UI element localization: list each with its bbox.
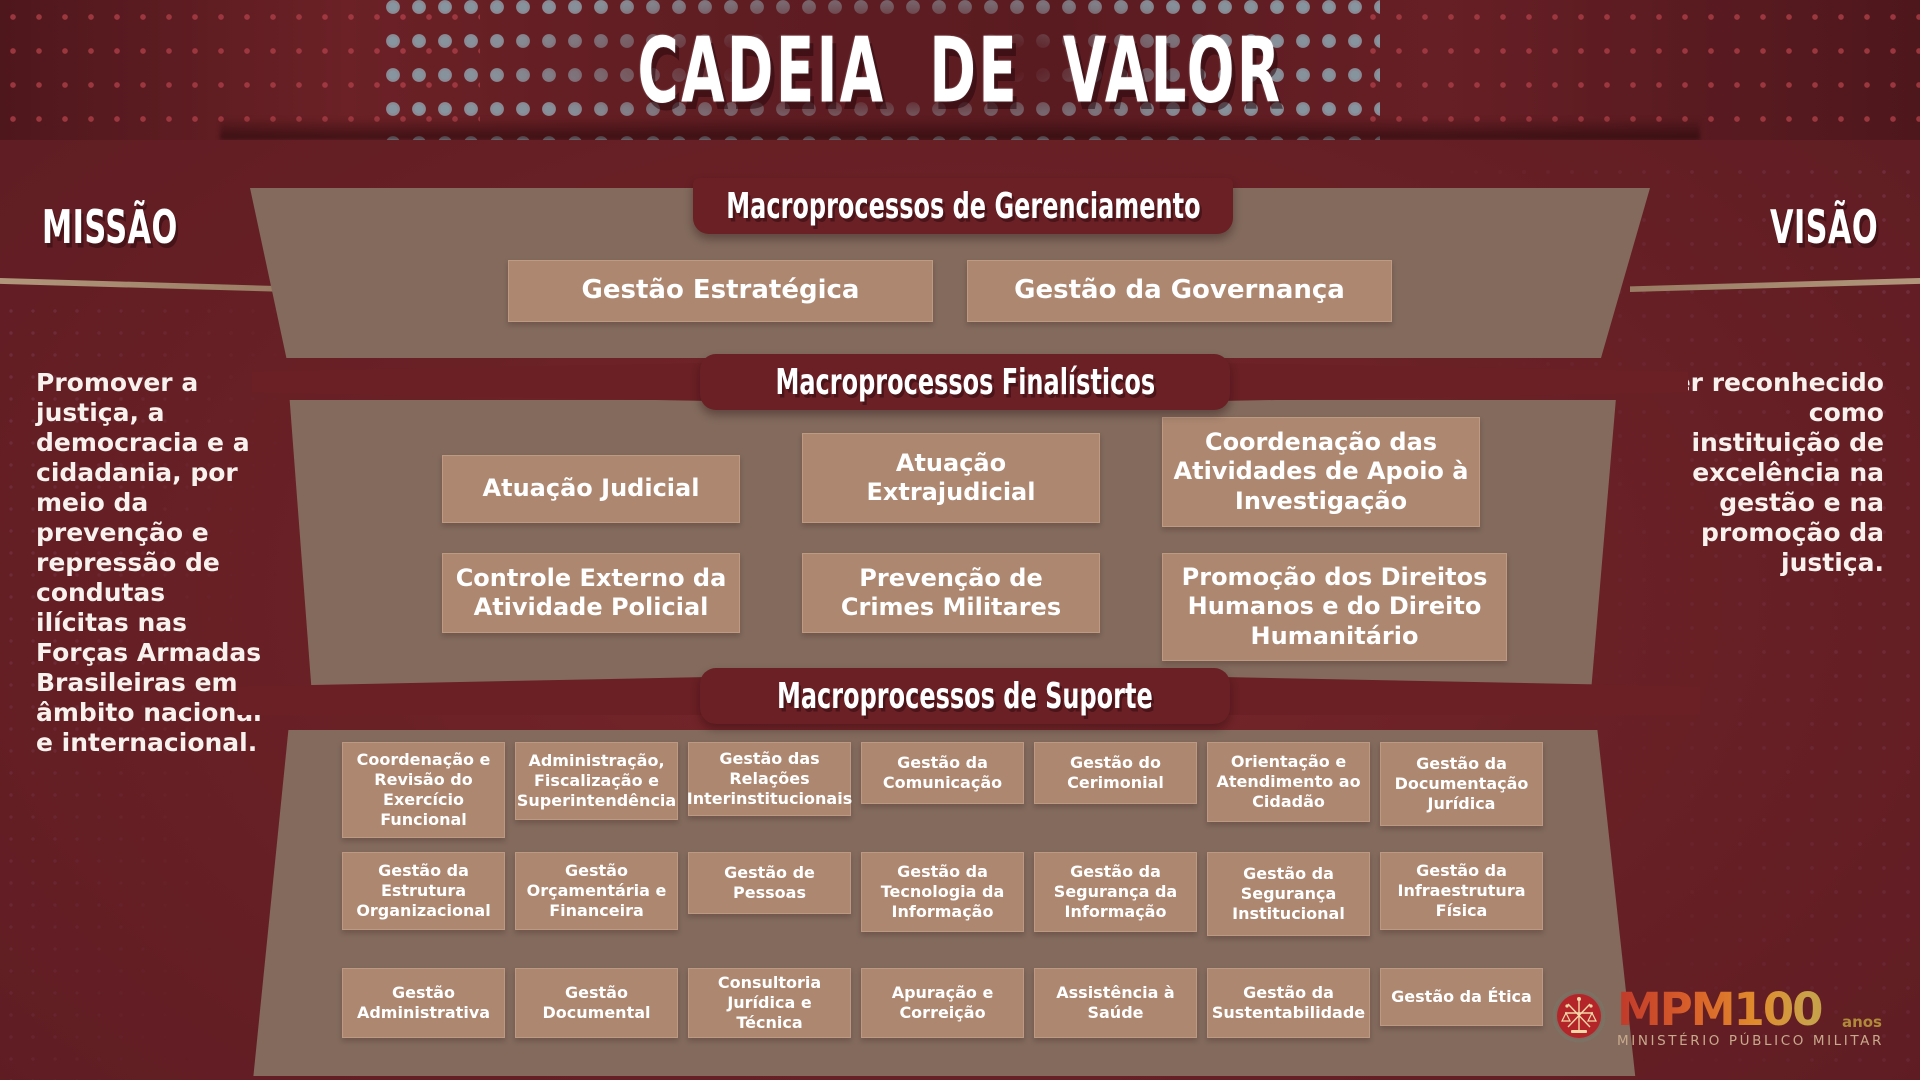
process-box[interactable]: Controle Externo da Atividade Policial (442, 553, 740, 633)
support-row: Gestão da Estrutura OrganizacionalGestão… (342, 852, 1543, 936)
core-banner-label: Macroprocessos Finalísticos (775, 361, 1155, 403)
mission-text: Promover a justiça, a democracia e a cid… (36, 368, 266, 758)
process-box[interactable]: Prevenção de Crimes Militares (802, 553, 1100, 633)
mpm-emblem-icon (1549, 987, 1609, 1047)
process-box[interactable]: Gestão da Tecnologia da Informação (861, 852, 1024, 932)
mpm-logo: MPM100 anos MINISTÉRIO PÚBLICO MILITAR (1549, 987, 1884, 1049)
process-box[interactable]: Gestão Documental (515, 968, 678, 1038)
page-title: CADEIA DE VALOR (211, 0, 1709, 140)
process-box[interactable]: Gestão da Segurança da Informação (1034, 852, 1197, 932)
process-box[interactable]: Gestão Estratégica (508, 260, 933, 322)
core-banner: Macroprocessos Finalísticos (700, 354, 1230, 410)
process-box[interactable]: Atuação Extrajudicial (802, 433, 1100, 523)
vision-text: Ser reconhecido como instituição de exce… (1654, 368, 1884, 578)
mpm-logo-wordmark: MPM100 anos (1617, 987, 1884, 1032)
process-box[interactable]: Promoção dos Direitos Humanos e do Direi… (1162, 553, 1507, 661)
process-box[interactable]: Gestão Administrativa (342, 968, 505, 1038)
process-box[interactable]: Gestão do Cerimonial (1034, 742, 1197, 804)
support-banner-label: Macroprocessos de Suporte (777, 675, 1153, 717)
mpm-logo-subtitle: MINISTÉRIO PÚBLICO MILITAR (1617, 1035, 1884, 1049)
process-box[interactable]: Coordenação das Atividades de Apoio à In… (1162, 417, 1480, 527)
process-box[interactable]: Gestão da Comunicação (861, 742, 1024, 804)
mpm-logo-text: MPM100 anos MINISTÉRIO PÚBLICO MILITAR (1617, 987, 1884, 1049)
process-box[interactable]: Gestão da Estrutura Organizacional (342, 852, 505, 930)
process-box[interactable]: Atuação Judicial (442, 455, 740, 523)
mission-title: MISSÃO (42, 200, 178, 254)
process-box[interactable]: Gestão da Infraestrutura Física (1380, 852, 1543, 930)
value-chain-poster: CADEIA DE VALOR MISSÃO Promover a justiç… (0, 0, 1920, 1080)
process-box[interactable]: Gestão das Relações Interinstitucionais (688, 742, 851, 816)
process-box[interactable]: Gestão Orçamentária e Financeira (515, 852, 678, 930)
process-box[interactable]: Apuração e Correição (861, 968, 1024, 1038)
support-row: Gestão AdministrativaGestão DocumentalCo… (342, 968, 1543, 1038)
mpm-logo-anos: anos (1842, 1015, 1882, 1030)
process-box[interactable]: Gestão da Ética (1380, 968, 1543, 1026)
mpm-logo-word: MPM100 (1617, 983, 1821, 1036)
poster-header: CADEIA DE VALOR (0, 0, 1920, 140)
management-banner-label: Macroprocessos de Gerenciamento (726, 185, 1200, 227)
support-banner: Macroprocessos de Suporte (700, 668, 1230, 724)
process-box[interactable]: Assistência à Saúde (1034, 968, 1197, 1038)
process-box[interactable]: Gestão da Governança (967, 260, 1392, 322)
support-row: Coordenação e Revisão do Exercício Funci… (342, 742, 1543, 838)
process-box[interactable]: Gestão de Pessoas (688, 852, 851, 914)
process-box[interactable]: Gestão da Documentação Jurídica (1380, 742, 1543, 826)
process-box[interactable]: Administração, Fiscalização e Superinten… (515, 742, 678, 820)
process-box[interactable]: Orientação e Atendimento ao Cidadão (1207, 742, 1370, 822)
management-banner: Macroprocessos de Gerenciamento (693, 178, 1233, 234)
process-box[interactable]: Gestão da Segurança Institucional (1207, 852, 1370, 936)
process-box[interactable]: Consultoria Jurídica e Técnica (688, 968, 851, 1038)
process-box[interactable]: Coordenação e Revisão do Exercício Funci… (342, 742, 505, 838)
process-box[interactable]: Gestão da Sustentabilidade (1207, 968, 1370, 1038)
vision-title: VISÃO (1770, 200, 1878, 254)
